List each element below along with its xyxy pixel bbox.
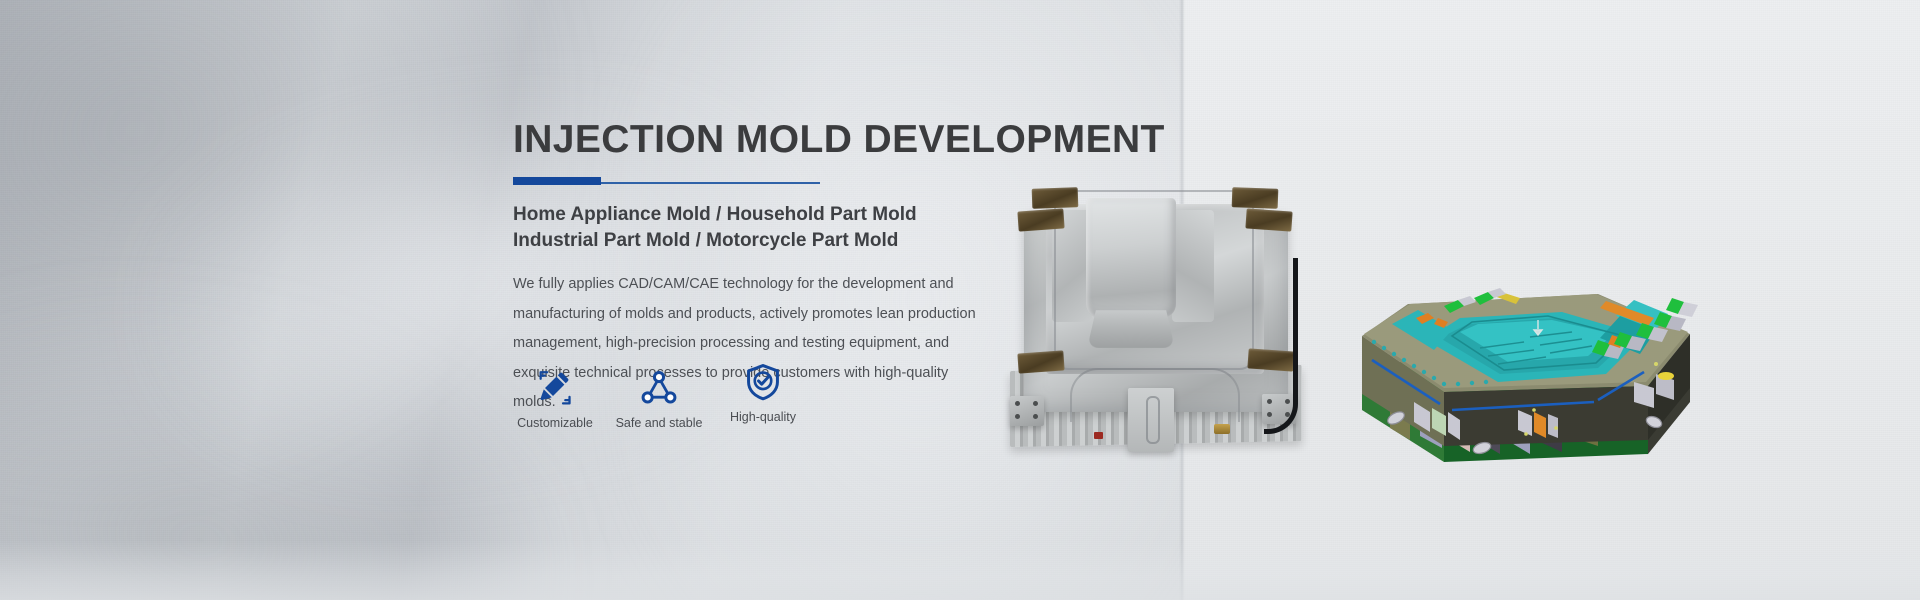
mold-gate-plate — [1128, 388, 1174, 452]
mold-right-rib — [1172, 210, 1214, 322]
mold-clamp-top-right — [1232, 187, 1279, 209]
mold-hose-fitting — [1214, 424, 1230, 434]
feature-label-safe-and-stable: Safe and stable — [616, 416, 703, 430]
subtitle-line-1: Home Appliance Mold / Household Part Mol… — [513, 202, 1033, 228]
steel-injection-mold-photo — [1000, 172, 1310, 457]
feature-label-high-quality: High-quality — [730, 410, 796, 424]
feature-item-safe-and-stable[interactable]: Safe and stable — [607, 364, 711, 430]
page-title: INJECTION MOLD DEVELOPMENT — [513, 120, 1033, 161]
mold-red-marker — [1094, 432, 1103, 439]
banner-subtitle: Home Appliance Mold / Household Part Mol… — [513, 202, 1033, 254]
feature-item-high-quality[interactable]: High-quality — [711, 358, 815, 424]
feature-list: Customizable Safe and stable — [503, 364, 815, 430]
network-triangle-icon — [635, 364, 683, 412]
accent-rule — [513, 177, 820, 185]
feature-item-customizable[interactable]: Customizable — [503, 364, 607, 430]
cad-injection-mold-render — [1348, 196, 1706, 464]
mold-clamp-mid-right — [1245, 208, 1292, 231]
mold-clamp-top-left — [1032, 187, 1079, 209]
injection-mold-banner: INJECTION MOLD DEVELOPMENT Home Applianc… — [0, 0, 1920, 600]
shield-check-icon — [739, 358, 787, 406]
mold-center-cavity — [1086, 198, 1176, 318]
accent-rule-block — [513, 177, 601, 185]
subtitle-line-2: Industrial Part Mold / Motorcycle Part M… — [513, 228, 1033, 254]
pencil-ruler-icon — [531, 364, 579, 412]
mold-cooling-hose — [1264, 258, 1298, 434]
feature-label-customizable: Customizable — [517, 416, 593, 430]
